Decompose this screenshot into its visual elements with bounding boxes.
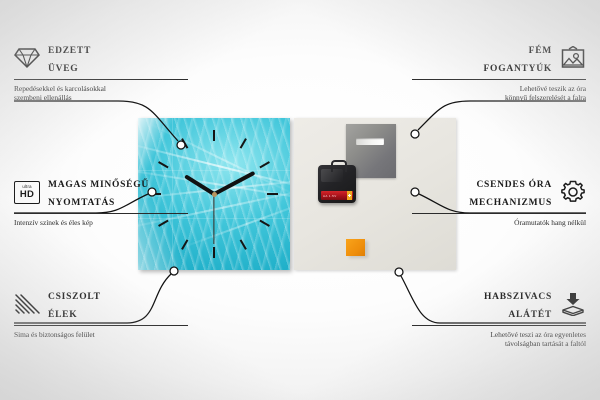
polished-edges-icon (14, 291, 40, 317)
callout-header: HABSZIVACS ALÁTÉT (412, 286, 586, 322)
callout-title-line2: NYOMTATÁS (48, 198, 115, 208)
callout-title-line1: HABSZIVACS (484, 292, 552, 302)
callout-desc-line1: Intenzív színek és éles kép (14, 218, 188, 228)
callout-divider (14, 325, 188, 326)
callout-divider (412, 325, 586, 326)
callout-title-line1: FÉM (529, 46, 552, 56)
callout-divider (14, 79, 188, 80)
clock-hour-hand (184, 174, 215, 195)
callout-header: EDZETT ÜVEG (14, 40, 188, 76)
callout-header: FÉM FOGANTYÚK (412, 40, 586, 76)
callout-habszivacs-alatet[interactable]: HABSZIVACS ALÁTÉT Lehetővé teszi az óra … (412, 286, 586, 349)
callout-edzett-uveg[interactable]: EDZETT ÜVEG Repedésekkel és karcolásokka… (14, 40, 188, 103)
gear-icon (560, 179, 586, 205)
callout-title-line1: CSENDES ÓRA (476, 180, 552, 190)
callout-title: HABSZIVACS ALÁTÉT (484, 286, 552, 322)
clock-tick (259, 161, 270, 168)
callout-desc-line1: Óramutatók hang nélkül (412, 218, 586, 228)
callout-csendes-ora-mechanizmus[interactable]: CSENDES ÓRA MECHANIZMUS Óramutatók hang … (412, 174, 586, 227)
callout-title: EDZETT ÜVEG (48, 40, 91, 76)
foam-pad-icon (560, 291, 586, 317)
clock-tick (213, 247, 215, 258)
clock-tick (240, 138, 247, 149)
callout-desc-line1: Repedésekkel és karcolásokkal (14, 84, 188, 94)
callout-title: MAGAS MINŐSÉGŰ NYOMTATÁS (48, 174, 149, 210)
clock-second-hand (213, 194, 214, 244)
callout-title: CSENDES ÓRA MECHANIZMUS (469, 174, 552, 210)
callout-divider (412, 213, 586, 214)
diamond-icon (14, 45, 40, 71)
callout-desc-line1: Lehetővé teszik az óra (412, 84, 586, 94)
callout-fem-fogantyuk[interactable]: FÉM FOGANTYÚK Lehetővé teszik az óra kön… (412, 40, 586, 103)
movement-hanger-loop (331, 160, 347, 172)
ultra-hd-badge-large: HD (20, 190, 34, 200)
battery-terminal (347, 191, 352, 200)
callout-desc-line2: távolságban tartását a faltól (412, 339, 586, 349)
picture-hanger-icon (560, 45, 586, 71)
callout-title-line1: MAGAS MINŐSÉGŰ (48, 180, 149, 190)
callout-title-line2: ALÁTÉT (508, 310, 552, 320)
callout-title-line2: ÉLEK (48, 310, 77, 320)
ultra-hd-icon: ultra HD (14, 179, 40, 205)
callout-magas-minosegu-nyomtatas[interactable]: ultra HD MAGAS MINŐSÉGŰ NYOMTATÁS Intenz… (14, 174, 188, 227)
clock-center-hub (212, 192, 217, 197)
clock-tick (259, 220, 270, 227)
callout-title-line2: MECHANIZMUS (469, 198, 552, 208)
hanger-slot (356, 138, 384, 145)
callout-title-line2: ÜVEG (48, 64, 78, 74)
battery: AA 1.5V (321, 191, 353, 200)
callout-header: CSISZOLT ÉLEK (14, 286, 188, 322)
clock-tick (181, 138, 188, 149)
infographic-canvas: AA 1.5V (0, 0, 600, 400)
clock-tick (267, 193, 278, 195)
callout-header: CSENDES ÓRA MECHANIZMUS (412, 174, 586, 210)
callout-desc-line1: Sima és biztonságos felület (14, 330, 188, 340)
callout-desc-line1: Lehetővé teszi az óra egyenletes (412, 330, 586, 340)
callout-desc-line2: szembeni ellenállás (14, 93, 188, 103)
callout-title-line1: CSISZOLT (48, 292, 101, 302)
callout-desc-line2: könnyű felszerelését a falra (412, 93, 586, 103)
orange-foam-pad (346, 239, 365, 256)
callout-title: CSISZOLT ÉLEK (48, 286, 101, 322)
clock-tick (240, 239, 247, 250)
callout-header: ultra HD MAGAS MINŐSÉGŰ NYOMTATÁS (14, 174, 188, 210)
callout-title: FÉM FOGANTYÚK (484, 40, 553, 76)
callout-divider (412, 79, 586, 80)
battery-label: AA 1.5V (323, 194, 337, 198)
clock-tick (213, 130, 215, 141)
callout-divider (14, 213, 188, 214)
clock-minute-hand (213, 171, 255, 196)
clock-tick (158, 161, 169, 168)
callout-title-line1: EDZETT (48, 46, 91, 56)
callout-csiszolt-elek[interactable]: CSISZOLT ÉLEK Sima és biztonságos felüle… (14, 286, 188, 339)
clock-tick (181, 239, 188, 250)
callout-title-line2: FOGANTYÚK (484, 64, 553, 74)
